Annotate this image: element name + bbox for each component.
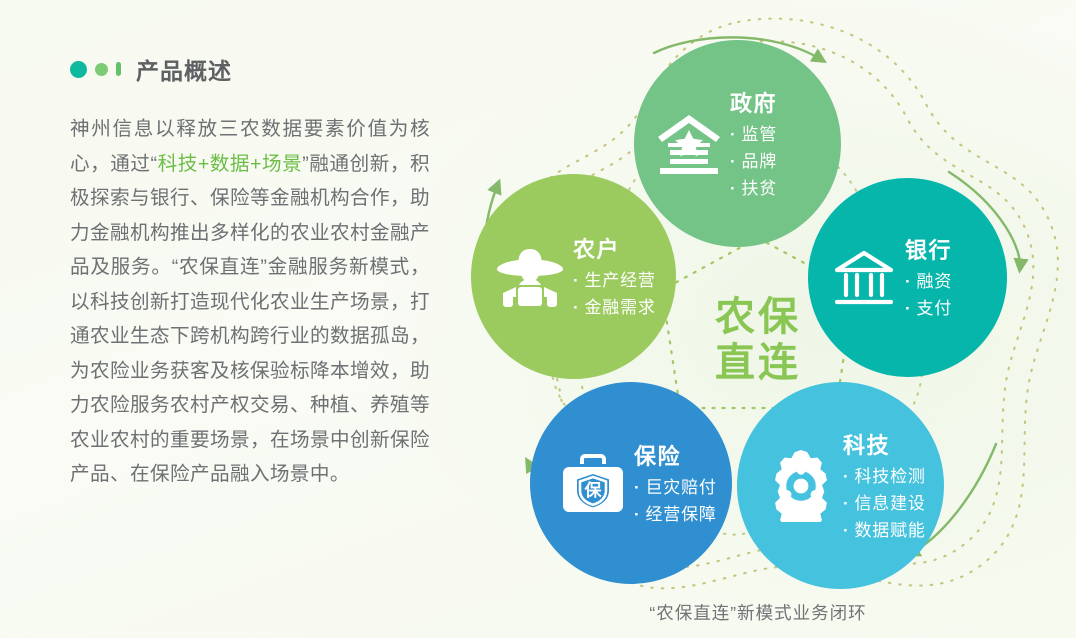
overview-paragraph: 神州信息以释放三农数据要素价值为核心，通过“科技+数据+场景”融通创新，积极探索…	[70, 112, 430, 492]
overview-highlight: 科技+数据+场景	[157, 153, 302, 175]
svg-text:保: 保	[584, 480, 603, 500]
node-technology-item-2: 数据赋能	[843, 517, 926, 544]
node-farmer-item-1: 金融需求	[573, 294, 656, 321]
insurance-briefcase-shield-icon: 保	[560, 451, 626, 515]
node-farmer-title: 农户	[573, 232, 656, 264]
node-technology-item-0: 科技检测	[843, 463, 926, 490]
node-insurance-item-1: 经营保障	[634, 501, 717, 528]
section-header: 产品概述	[70, 52, 430, 86]
node-government-item-1: 品牌	[730, 148, 777, 175]
diagram-caption: “农保直连”新模式业务闭环	[440, 600, 1076, 625]
farmer-hat-icon	[495, 246, 565, 308]
diagram-center-label: 农保 直连	[668, 262, 848, 417]
node-government[interactable]: 政府 监管 品牌 扶贫	[634, 40, 841, 247]
node-government-title: 政府	[730, 86, 777, 118]
government-building-icon	[656, 113, 722, 175]
node-insurance-item-0: 巨灾赔付	[634, 474, 717, 501]
node-government-item-0: 监管	[730, 121, 777, 148]
node-technology-title: 科技	[843, 428, 926, 460]
node-bank-item-0: 融资	[905, 268, 952, 295]
overview-text-part2: ”融通创新，积极探索与银行、保险等金融机构合作，助力金融机构推出多样化的农业农村…	[70, 153, 430, 486]
node-farmer[interactable]: 农户 生产经营 金融需求	[471, 174, 676, 379]
rounded-bar-icon	[116, 62, 121, 76]
node-farmer-item-0: 生产经营	[573, 267, 656, 294]
business-loop-diagram: 政府 监管 品牌 扶贫 银行 融资 支付	[440, 0, 1076, 638]
filled-circle-icon-large	[70, 61, 87, 78]
node-government-text: 政府 监管 品牌 扶贫	[730, 86, 777, 202]
center-label-line-1: 农保	[715, 294, 801, 340]
center-label-line-2: 直连	[715, 340, 801, 386]
node-bank-item-1: 支付	[905, 295, 952, 322]
node-farmer-text: 农户 生产经营 金融需求	[573, 232, 656, 321]
node-bank-title: 银行	[905, 233, 952, 265]
page-title: 产品概述	[136, 52, 232, 86]
node-technology-text: 科技 科技检测 信息建设 数据赋能	[843, 428, 926, 544]
node-insurance-title: 保险	[634, 439, 717, 471]
gear-icon	[765, 450, 837, 522]
node-government-item-2: 扶贫	[730, 175, 777, 202]
filled-circle-icon-medium	[95, 63, 108, 76]
node-bank-text: 银行 融资 支付	[905, 233, 952, 322]
node-technology-item-1: 信息建设	[843, 490, 926, 517]
product-overview-panel: 产品概述 神州信息以释放三农数据要素价值为核心，通过“科技+数据+场景”融通创新…	[70, 52, 430, 492]
node-insurance-text: 保险 巨灾赔付 经营保障	[634, 439, 717, 528]
